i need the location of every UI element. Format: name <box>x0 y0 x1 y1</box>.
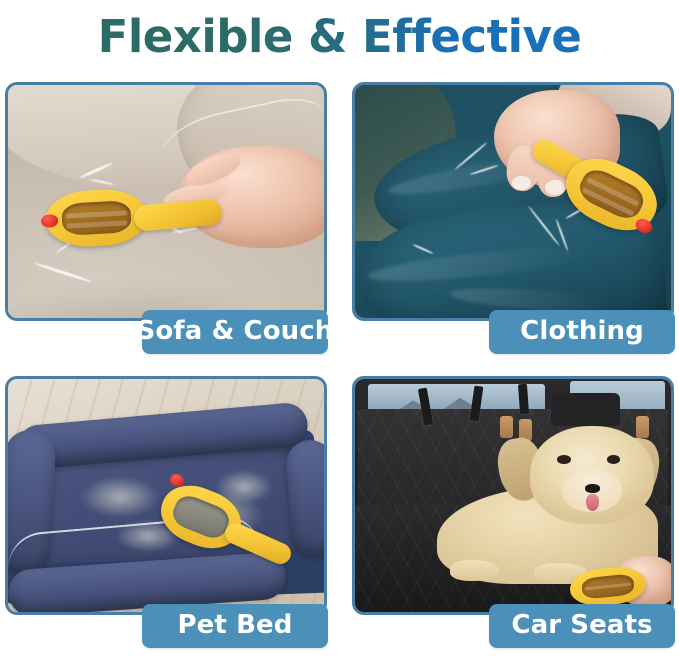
panel-label-banner-car-seats[interactable]: Car Seats <box>489 604 675 648</box>
scene-car-seat-cover <box>355 379 671 612</box>
panel-label-text: Pet Bed <box>178 612 293 640</box>
panel-label-text: Car Seats <box>511 612 652 640</box>
pet-hair-remover-brush <box>45 187 149 248</box>
panel-label-banner-pet-bed[interactable]: Pet Bed <box>142 604 328 648</box>
page-title: Flexible & Effective <box>0 0 679 72</box>
dog-paw-front-left <box>450 560 499 581</box>
scene-teal-jeans <box>355 85 671 318</box>
panel-photo-clothing <box>352 82 674 321</box>
panel-label-text: Sofa & Couch <box>137 318 334 346</box>
sofa-shadow <box>8 248 324 318</box>
infographic-page: Flexible & Effective <box>0 0 679 650</box>
hand <box>179 146 324 249</box>
page-title-text: Flexible & Effective <box>98 14 582 59</box>
dog-nose <box>585 484 600 493</box>
dog-muzzle <box>562 469 621 512</box>
dog-tongue <box>586 494 599 511</box>
fingernail <box>512 176 531 191</box>
panel-photo-car-seats <box>352 376 674 615</box>
panel-label-banner-sofa-couch[interactable]: Sofa & Couch <box>142 310 328 354</box>
feature-panel-clothing[interactable]: Clothing <box>347 74 679 362</box>
panel-label-text: Clothing <box>520 318 644 346</box>
pet-hair-remover-brush <box>568 564 647 609</box>
dog-head <box>530 426 654 524</box>
dog-eye-left <box>557 455 571 464</box>
panel-photo-pet-bed <box>5 376 327 615</box>
feature-panel-car-seats[interactable]: Car Seats <box>347 368 679 656</box>
scene-beige-sofa <box>8 85 324 318</box>
feature-panel-pet-bed[interactable]: Pet Bed <box>0 368 332 656</box>
feature-panel-grid: Sofa & Couch <box>0 74 679 650</box>
brush-release-button <box>41 214 59 227</box>
headrest <box>551 393 621 426</box>
scene-navy-pet-bed <box>8 379 324 612</box>
panel-label-banner-clothing[interactable]: Clothing <box>489 310 675 354</box>
feature-panel-sofa-couch[interactable]: Sofa & Couch <box>0 74 332 362</box>
panel-photo-sofa-couch <box>5 82 327 321</box>
dog-eye-right <box>607 455 621 464</box>
